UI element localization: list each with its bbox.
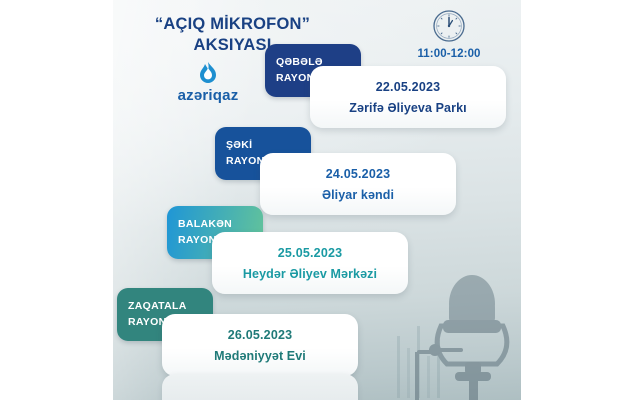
schedule-row: QƏBƏLƏ RAYONU 22.05.2023 Zərifə Əliyeva … — [113, 44, 521, 130]
schedule-row: ŞƏKİ RAYONU 24.05.2023 Əliyar kəndi — [113, 127, 521, 213]
schedule-row: BALAKƏN RAYONU 25.05.2023 Heydər Əliyev … — [113, 206, 521, 292]
schedule-row: ZAQATALA RAYONU 26.05.2023 Mədəniyyət Ev… — [113, 288, 521, 374]
next-event-card-partial — [162, 374, 358, 400]
event-date: 24.05.2023 — [326, 167, 391, 181]
event-date: 22.05.2023 — [376, 80, 441, 94]
event-card[interactable]: 25.05.2023 Heydər Əliyev Mərkəzi — [212, 232, 408, 294]
event-card[interactable]: 26.05.2023 Mədəniyyət Evi — [162, 314, 358, 376]
screenshot-canvas: “AÇIQ MİKROFON” AKSIYASI azəriqaz — [0, 0, 637, 400]
event-venue: Zərifə Əliyeva Parkı — [349, 101, 466, 115]
clock-icon — [389, 9, 509, 43]
region-name-line-1: ZAQATALA — [128, 299, 213, 314]
event-date: 26.05.2023 — [228, 328, 293, 342]
event-date: 25.05.2023 — [278, 246, 343, 260]
poster: “AÇIQ MİKROFON” AKSIYASI azəriqaz — [113, 0, 521, 400]
event-venue: Mədəniyyət Evi — [214, 349, 306, 363]
title-line-1: “AÇIQ MİKROFON” — [155, 15, 310, 33]
event-card[interactable]: 22.05.2023 Zərifə Əliyeva Parkı — [310, 66, 506, 128]
event-venue: Əliyar kəndi — [322, 188, 394, 202]
region-name-line-1: BALAKƏN — [178, 217, 263, 232]
event-venue: Heydər Əliyev Mərkəzi — [243, 267, 377, 281]
region-name-line-1: ŞƏKİ — [226, 138, 311, 153]
